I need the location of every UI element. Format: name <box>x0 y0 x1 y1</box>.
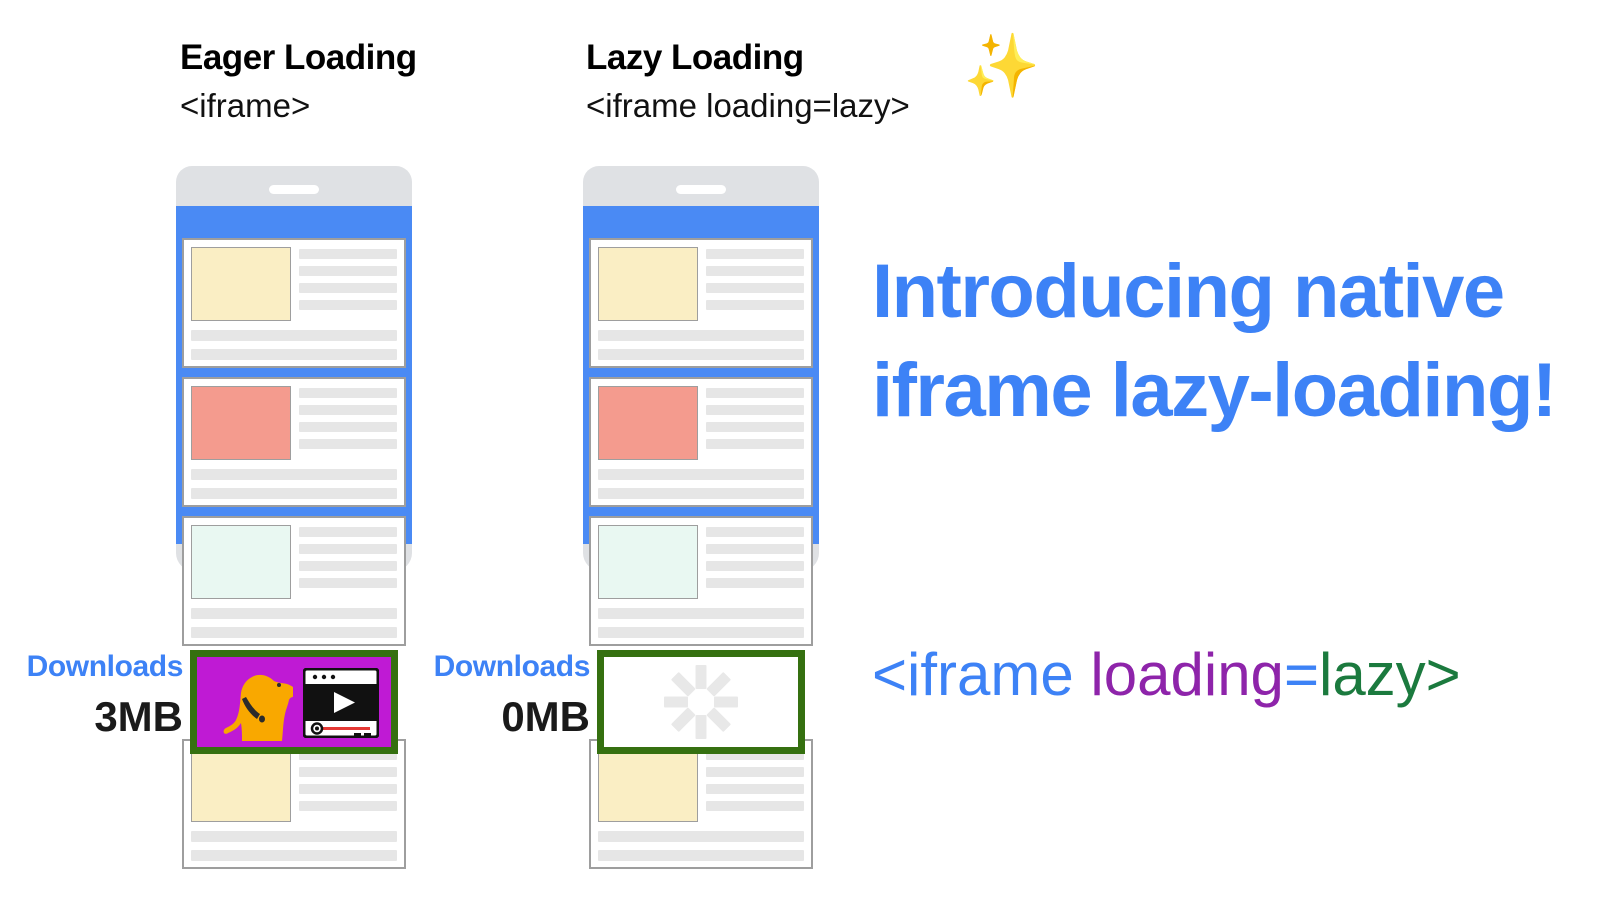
text-line <box>706 578 804 588</box>
text-line <box>299 784 397 794</box>
text-line <box>706 801 804 811</box>
card-thumbnail <box>598 247 698 321</box>
column-heading-lazy: Lazy Loading <iframe loading=lazy> <box>586 40 910 122</box>
text-line <box>299 283 397 293</box>
text-line <box>706 405 804 415</box>
text-line <box>706 266 804 276</box>
text-line <box>706 388 804 398</box>
text-line <box>706 784 804 794</box>
video-player-icon <box>303 668 379 738</box>
text-line <box>598 330 804 341</box>
text-line <box>299 767 397 777</box>
text-line <box>598 488 804 499</box>
article-card <box>589 739 813 869</box>
article-card <box>589 516 813 646</box>
text-line <box>191 608 397 619</box>
card-thumbnail <box>598 748 698 822</box>
text-line <box>598 608 804 619</box>
text-line <box>706 527 804 537</box>
phone-speaker <box>676 185 726 194</box>
article-card-list-eager <box>182 238 406 878</box>
downloads-metric-eager: Downloads 3MB <box>0 652 183 738</box>
text-line <box>191 330 397 341</box>
text-line <box>706 561 804 571</box>
card-thumbnail <box>191 386 291 460</box>
card-thumbnail <box>191 748 291 822</box>
article-card <box>182 238 406 368</box>
column-heading-eager: Eager Loading <iframe> <box>180 40 417 122</box>
text-line <box>299 439 397 449</box>
text-line <box>191 831 397 842</box>
article-card <box>182 377 406 507</box>
code-snippet: <iframe loading=lazy> <box>872 645 1461 705</box>
illustration-canvas: Eager Loading <iframe> Lazy Loading <ifr… <box>0 0 1600 919</box>
code-tag: <iframe <box>872 641 1090 708</box>
text-line <box>299 578 397 588</box>
text-line <box>191 469 397 480</box>
downloads-label: Downloads <box>0 652 183 682</box>
iframe-embed-placeholder <box>597 650 805 754</box>
text-line <box>706 422 804 432</box>
column-title-eager: Eager Loading <box>180 40 417 75</box>
card-thumbnail <box>598 525 698 599</box>
text-line <box>191 850 397 861</box>
text-line <box>191 349 397 360</box>
downloads-metric-lazy: Downloads 0MB <box>402 652 590 738</box>
text-line <box>191 627 397 638</box>
text-line <box>706 767 804 777</box>
article-card <box>589 377 813 507</box>
column-code-eager: <iframe> <box>180 89 417 122</box>
text-line <box>299 544 397 554</box>
text-line <box>299 266 397 276</box>
text-line <box>299 249 397 259</box>
text-line <box>706 283 804 293</box>
downloads-value: 3MB <box>0 696 183 738</box>
sparkles-icon: ✨ <box>963 36 1040 98</box>
text-line <box>299 405 397 415</box>
phone-speaker <box>269 185 319 194</box>
column-code-lazy: <iframe loading=lazy> <box>586 89 910 122</box>
text-line <box>299 388 397 398</box>
text-line <box>191 488 397 499</box>
article-card <box>182 516 406 646</box>
text-line <box>706 249 804 259</box>
card-thumbnail <box>191 525 291 599</box>
text-line <box>598 831 804 842</box>
text-line <box>299 561 397 571</box>
text-line <box>706 300 804 310</box>
text-line <box>598 627 804 638</box>
code-value: lazy> <box>1319 641 1461 708</box>
text-line <box>299 300 397 310</box>
article-card-list-lazy <box>589 238 813 878</box>
code-attribute: loading <box>1090 641 1284 708</box>
article-card <box>589 238 813 368</box>
iframe-embed-loaded <box>190 650 398 754</box>
code-equals: = <box>1284 641 1319 708</box>
article-card <box>182 739 406 869</box>
dog-silhouette-icon <box>211 669 293 747</box>
text-line <box>598 349 804 360</box>
loading-spinner-icon <box>664 665 738 739</box>
downloads-value: 0MB <box>402 696 590 738</box>
headline-text: Introducing native iframe lazy-loading! <box>872 243 1572 441</box>
text-line <box>598 469 804 480</box>
card-thumbnail <box>191 247 291 321</box>
text-line <box>706 544 804 554</box>
text-line <box>299 422 397 432</box>
text-line <box>299 801 397 811</box>
column-title-lazy: Lazy Loading <box>586 40 910 75</box>
text-line <box>706 439 804 449</box>
downloads-label: Downloads <box>402 652 590 682</box>
text-line <box>598 850 804 861</box>
text-line <box>299 527 397 537</box>
card-thumbnail <box>598 386 698 460</box>
